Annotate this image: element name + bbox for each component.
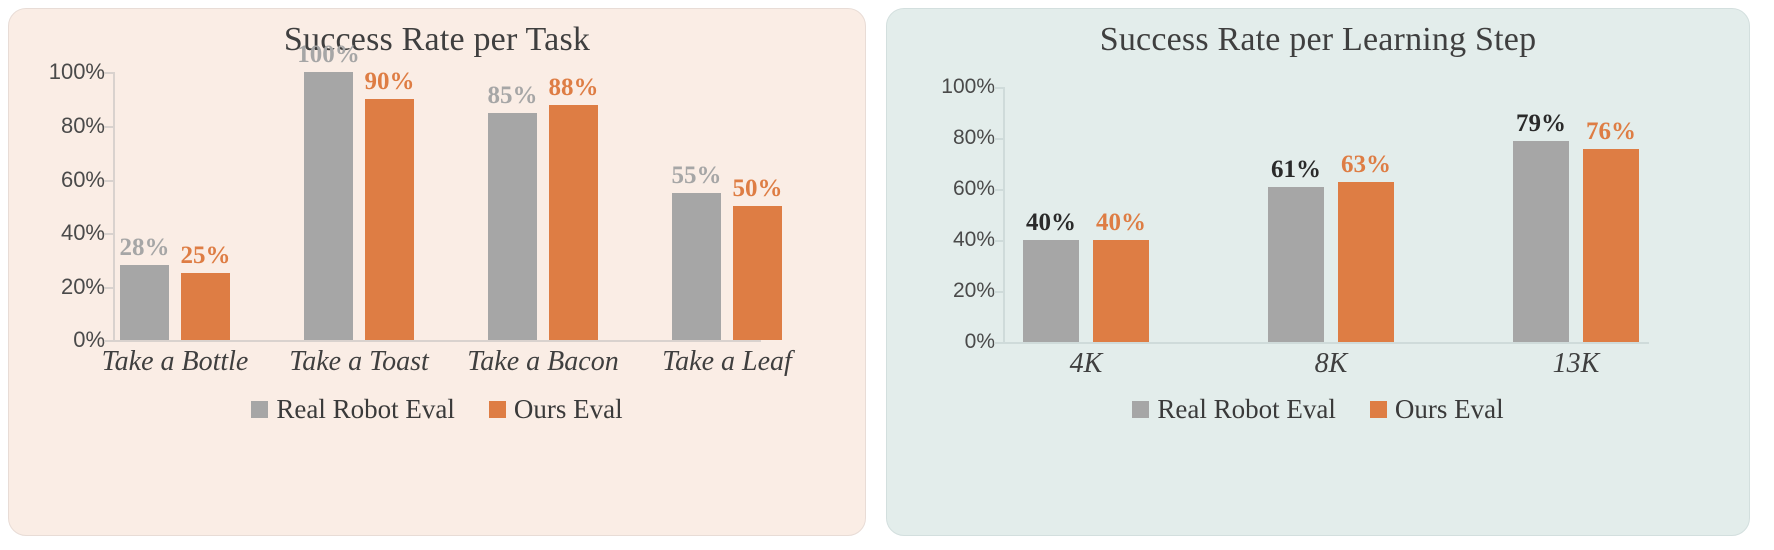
y-axis-tick	[994, 342, 1003, 344]
y-tick-label: 60%	[953, 177, 995, 201]
bar-value-label: 40%	[1026, 209, 1076, 237]
legend-label-ours-eval: Ours Eval	[1395, 396, 1504, 423]
bar-gray	[1268, 187, 1324, 343]
right-y-axis-labels: 0%20%40%60%80%100%	[901, 86, 1003, 384]
left-plot-area: 0%20%40%60%80%100% 28%25%Take a Bottle10…	[23, 74, 853, 384]
bar-orange	[733, 206, 782, 340]
bar-orange	[1583, 149, 1639, 343]
legend-swatch-orange-icon	[489, 401, 506, 418]
y-tick-label: 60%	[61, 167, 105, 193]
category-label: Take a Bottle	[102, 346, 249, 378]
legend-swatch-orange-icon	[1370, 401, 1387, 418]
bar-value-label: 100%	[297, 41, 360, 69]
left-y-axis-labels: 0%20%40%60%80%100%	[23, 74, 113, 384]
right-y-axis-line	[1003, 87, 1005, 342]
bar-value-label: 63%	[1341, 151, 1391, 179]
bar-value-label: 40%	[1096, 209, 1146, 237]
y-axis-tick	[104, 126, 113, 128]
y-tick-label: 80%	[61, 113, 105, 139]
legend-item-ours-eval[interactable]: Ours Eval	[1370, 396, 1504, 423]
bar-value-label: 50%	[733, 175, 783, 203]
bar-orange	[181, 273, 230, 340]
bar-value-label: 76%	[1586, 118, 1636, 146]
legend-label-real-robot-eval: Real Robot Eval	[276, 396, 454, 423]
left-legend: Real Robot Eval Ours Eval	[9, 396, 865, 423]
y-axis-tick	[104, 287, 113, 289]
bar-gray	[672, 193, 721, 340]
legend-swatch-gray-icon	[1132, 401, 1149, 418]
category-label: 4K	[1070, 348, 1103, 380]
y-tick-label: 20%	[953, 279, 995, 303]
legend-item-ours-eval[interactable]: Ours Eval	[489, 396, 623, 423]
y-axis-tick	[994, 87, 1003, 89]
category-label: Take a Toast	[289, 346, 429, 378]
y-tick-label: 80%	[953, 126, 995, 150]
bar-orange	[365, 99, 414, 340]
y-tick-label: 20%	[61, 274, 105, 300]
bar-orange	[1338, 182, 1394, 343]
y-axis-tick	[994, 138, 1003, 140]
bar-value-label: 55%	[672, 162, 722, 190]
legend-item-real-robot-eval[interactable]: Real Robot Eval	[251, 396, 454, 423]
left-chart-title: Success Rate per Task	[9, 9, 865, 58]
bar-value-label: 88%	[549, 74, 599, 102]
y-tick-label: 100%	[941, 75, 995, 99]
y-tick-label: 100%	[49, 59, 105, 85]
legend-label-real-robot-eval: Real Robot Eval	[1157, 396, 1335, 423]
legend-swatch-gray-icon	[251, 401, 268, 418]
bar-gray	[1513, 141, 1569, 342]
y-axis-tick	[994, 240, 1003, 242]
bar-orange	[549, 105, 598, 341]
panel-success-rate-per-task: Success Rate per Task 0%20%40%60%80%100%…	[8, 8, 866, 536]
y-axis-tick	[104, 233, 113, 235]
y-tick-label: 0%	[965, 330, 995, 354]
bar-orange	[1093, 240, 1149, 342]
bar-value-label: 25%	[181, 242, 231, 270]
bar-gray	[304, 72, 353, 340]
panel-success-rate-per-learning-step: Success Rate per Learning Step 0%20%40%6…	[886, 8, 1750, 536]
bar-gray	[120, 265, 169, 340]
bar-gray	[488, 113, 537, 341]
right-plot-area: 0%20%40%60%80%100% 40%40%4K61%63%8K79%76…	[901, 86, 1741, 384]
category-label: 8K	[1315, 348, 1348, 380]
bar-value-label: 28%	[120, 234, 170, 262]
left-x-axis-line	[113, 340, 761, 342]
y-axis-tick	[104, 72, 113, 74]
legend-label-ours-eval: Ours Eval	[514, 396, 623, 423]
bar-gray	[1023, 240, 1079, 342]
category-label: 13K	[1553, 348, 1600, 380]
bar-value-label: 90%	[365, 68, 415, 96]
left-y-axis-line	[113, 72, 115, 340]
y-tick-label: 40%	[61, 220, 105, 246]
bar-value-label: 79%	[1516, 110, 1566, 138]
y-axis-tick	[994, 189, 1003, 191]
right-legend: Real Robot Eval Ours Eval	[887, 396, 1749, 423]
right-chart-title: Success Rate per Learning Step	[887, 9, 1749, 58]
y-axis-tick	[104, 180, 113, 182]
bar-value-label: 85%	[488, 82, 538, 110]
y-axis-tick	[104, 340, 113, 342]
two-panel-bar-chart-figure: Success Rate per Task 0%20%40%60%80%100%…	[0, 0, 1774, 550]
bar-value-label: 61%	[1271, 156, 1321, 184]
right-x-axis-line	[1003, 342, 1649, 344]
category-label: Take a Leaf	[662, 346, 792, 378]
category-label: Take a Bacon	[467, 346, 618, 378]
legend-item-real-robot-eval[interactable]: Real Robot Eval	[1132, 396, 1335, 423]
y-tick-label: 0%	[73, 327, 105, 353]
y-axis-tick	[994, 291, 1003, 293]
y-tick-label: 40%	[953, 228, 995, 252]
